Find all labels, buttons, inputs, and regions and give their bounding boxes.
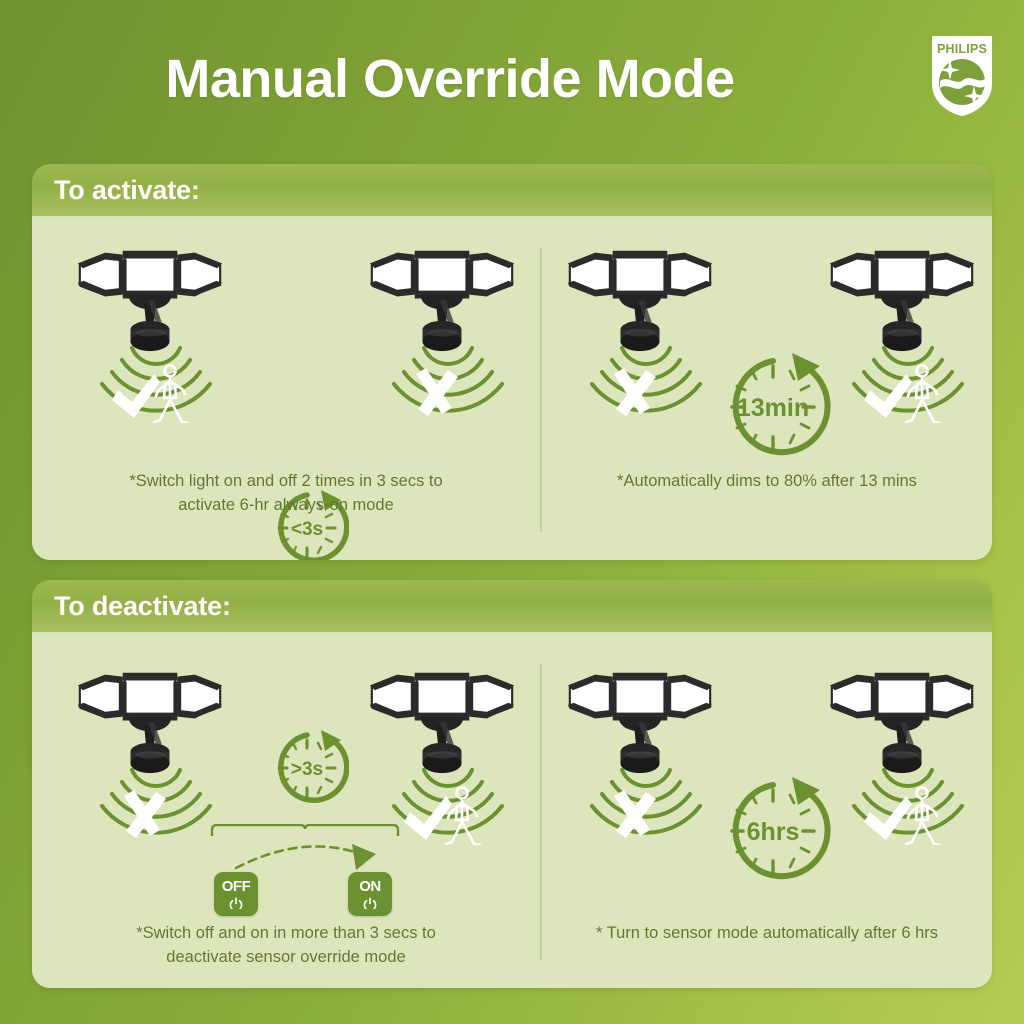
deactivate-right-caption: * Turn to sensor mode automatically afte…: [542, 922, 992, 946]
sensor-waves-check-person-icon: [848, 750, 968, 845]
page-title: Manual Override Mode: [0, 48, 900, 110]
caption-line-2: deactivate sensor override mode: [56, 946, 516, 970]
sensor-waves-check-person-icon: [96, 328, 216, 423]
caption-line-1: *Switch off and on in more than 3 secs t…: [56, 922, 516, 946]
deactivate-left-caption: *Switch off and on in more than 3 secs t…: [32, 922, 540, 970]
philips-wordmark: PHILIPS: [937, 42, 987, 56]
caption-line-1: *Switch light on and off 2 times in 3 se…: [56, 470, 516, 494]
clock-13min-icon: 13min: [714, 348, 832, 466]
sensor-waves-check-person-icon: [848, 328, 968, 423]
power-icon: [363, 896, 377, 909]
clock-over-3s-icon: >3s: [265, 726, 349, 810]
clock-6hrs-icon: 6hrs: [714, 772, 832, 890]
sensor-waves-cross-icon: [586, 750, 706, 845]
switch-sequence-deactivate: OFF ON: [214, 872, 392, 916]
philips-shield-logo: PHILIPS: [928, 34, 996, 118]
card-deactivate-heading: To deactivate:: [32, 591, 231, 622]
power-icon: [229, 896, 243, 909]
clock-6hrs-label: 6hrs: [747, 818, 800, 846]
deactivate-left-panel: >3s OFF ON: [32, 634, 540, 988]
clock-3s-label: <3s: [291, 519, 323, 540]
switch-label: OFF: [222, 879, 251, 894]
clock-over-3s-label: >3s: [291, 759, 323, 780]
card-activate-header: To activate:: [32, 164, 992, 218]
card-activate: To activate:: [32, 164, 992, 560]
card-deactivate-header: To deactivate:: [32, 580, 992, 634]
activate-left-panel: <3s OFF: [32, 218, 540, 560]
switch-label: ON: [359, 879, 381, 894]
sensor-waves-cross-icon: [586, 328, 706, 423]
header: Manual Override Mode PHILIPS: [0, 0, 1024, 150]
sensor-waves-check-person-icon: [388, 750, 508, 845]
card-deactivate: To deactivate:: [32, 580, 992, 988]
card-activate-heading: To activate:: [32, 175, 200, 206]
switch-button-on[interactable]: ON: [348, 872, 392, 916]
switch-button-off[interactable]: OFF: [214, 872, 258, 916]
deactivate-right-panel: 6hrs * Turn to sensor mode automatically…: [542, 634, 992, 988]
caption-line-1: *Automatically dims to 80% after 13 mins: [566, 470, 968, 494]
activate-right-caption: *Automatically dims to 80% after 13 mins: [542, 470, 992, 494]
sensor-waves-cross-icon: [96, 750, 216, 845]
clock-13min-label: 13min: [737, 394, 809, 422]
activate-left-caption: *Switch light on and off 2 times in 3 se…: [32, 470, 540, 518]
caption-line-1: * Turn to sensor mode automatically afte…: [566, 922, 968, 946]
caption-line-2: activate 6-hr always-on mode: [56, 494, 516, 518]
card-deactivate-body: >3s OFF ON: [32, 634, 992, 988]
sensor-waves-cross-icon: [388, 328, 508, 423]
activate-right-panel: 13min *Automatically dims to 80% after 1…: [542, 218, 992, 560]
card-activate-body: <3s OFF: [32, 218, 992, 560]
